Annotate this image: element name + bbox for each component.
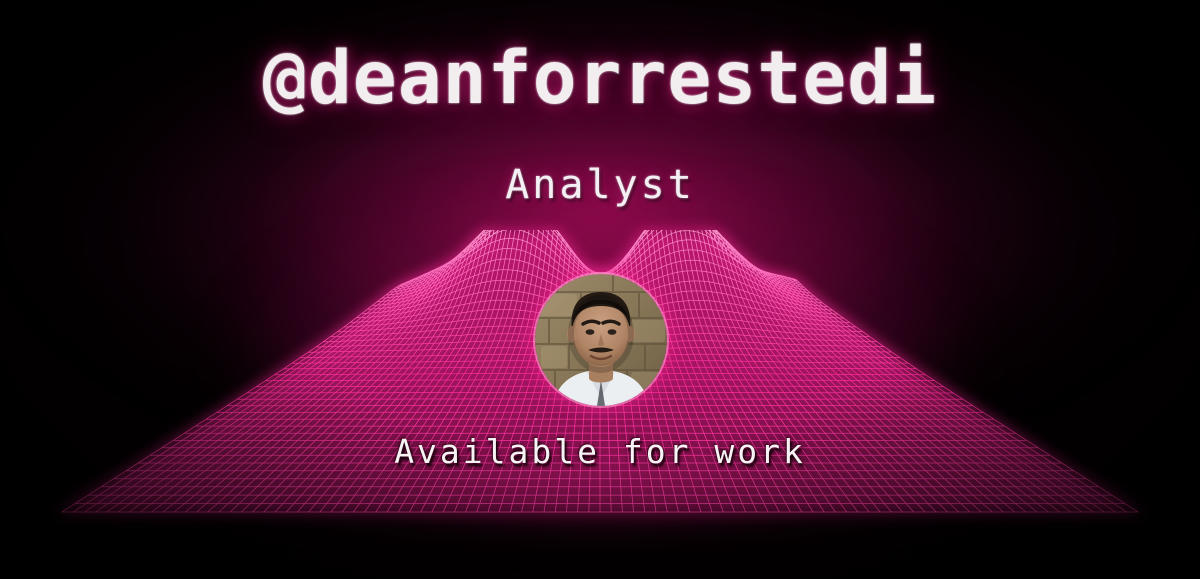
page-title: @deanforrestedi <box>0 36 1200 121</box>
status-badge: Available for work <box>0 432 1200 471</box>
avatar-image <box>535 274 667 406</box>
avatar <box>535 274 667 406</box>
role-subtitle: Analyst <box>0 162 1200 208</box>
profile-banner: @deanforrestedi Analyst Available for wo… <box>0 0 1200 579</box>
